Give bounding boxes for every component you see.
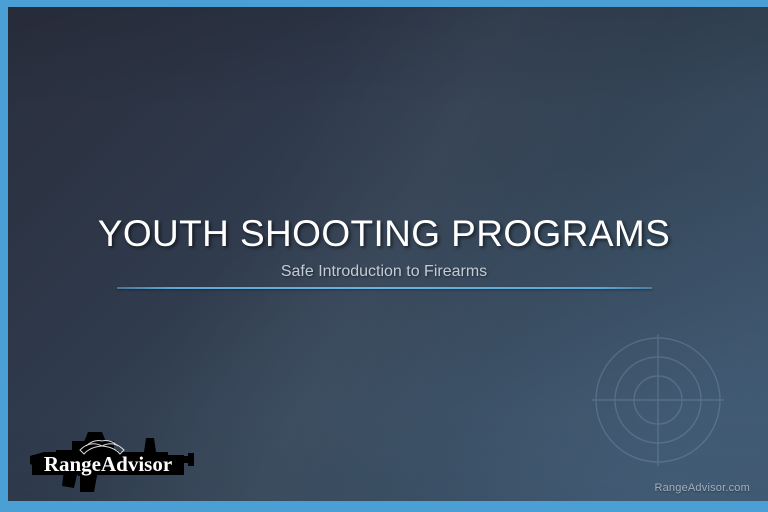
title-divider-rule — [117, 287, 652, 289]
accent-border-bottom — [0, 501, 768, 512]
target-crosshair-icon — [592, 334, 724, 466]
title-block: YOUTH SHOOTING PROGRAMS Safe Introductio… — [0, 212, 768, 282]
page-title: YOUTH SHOOTING PROGRAMS — [0, 212, 768, 256]
logo-wordmark: RangeAdvisor — [44, 452, 172, 476]
page-subtitle: Safe Introduction to Firearms — [0, 256, 768, 282]
title-slide: YOUTH SHOOTING PROGRAMS Safe Introductio… — [0, 0, 768, 512]
accent-border-top — [0, 0, 768, 7]
rangeadvisor-logo: RangeAdvisor — [28, 428, 196, 494]
footer-website-url: RangeAdvisor.com — [654, 482, 750, 494]
